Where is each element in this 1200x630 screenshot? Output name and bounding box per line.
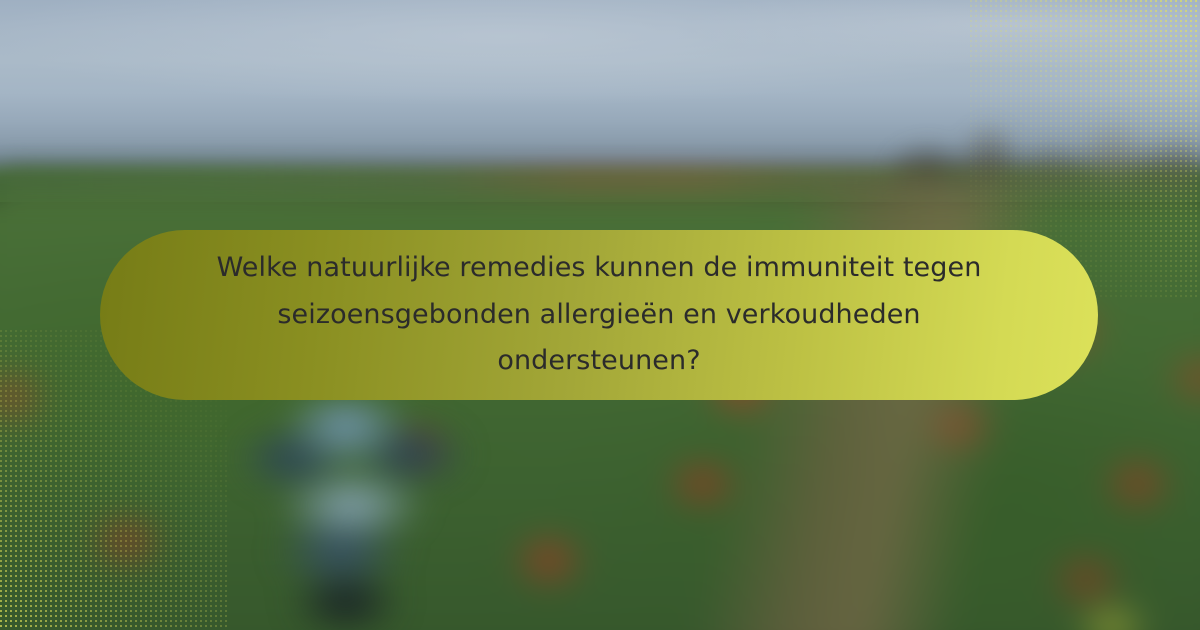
headline-pill: Welke natuurlijke remedies kunnen de imm…	[100, 230, 1098, 400]
headline-text: Welke natuurlijke remedies kunnen de imm…	[210, 245, 988, 384]
social-card-canvas: Welke natuurlijke remedies kunnen de imm…	[0, 0, 1200, 630]
person-figure	[198, 398, 494, 630]
